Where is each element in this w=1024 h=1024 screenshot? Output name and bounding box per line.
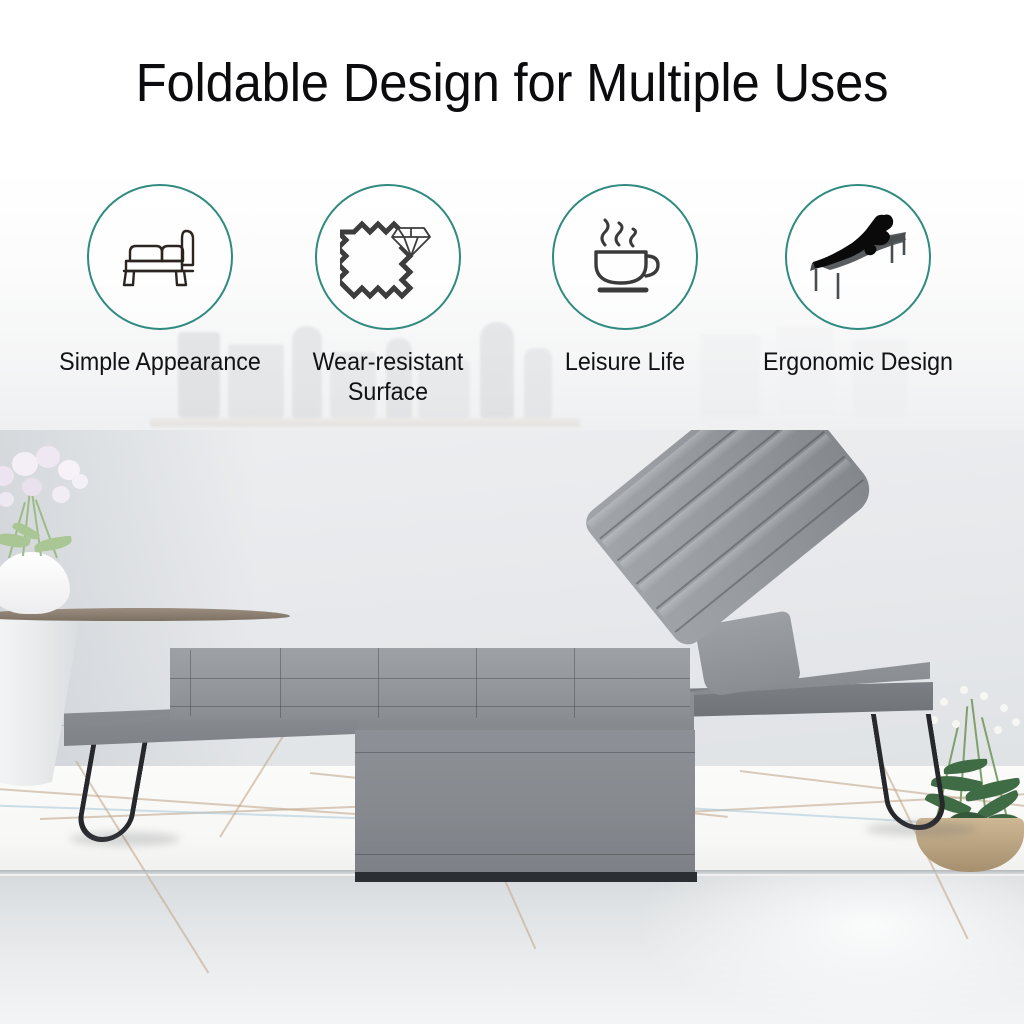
reclining-backrest xyxy=(580,430,900,676)
feature-icon-circle xyxy=(87,184,233,330)
feature-icon-circle xyxy=(552,184,698,330)
feature-item-ergonomic-design: Ergonomic Design xyxy=(742,184,974,377)
main-mattress-top xyxy=(170,648,690,720)
coffee-cup-steam-icon xyxy=(578,211,672,303)
feature-panel: Foldable Design for Multiple Uses xyxy=(0,0,1024,448)
page-title: Foldable Design for Multiple Uses xyxy=(31,52,994,114)
feature-icon-circle xyxy=(785,184,931,330)
feature-list: Simple Appearance xyxy=(0,184,1024,434)
skirt-base-shadow xyxy=(355,872,697,882)
folding-fabric-skirt xyxy=(355,730,695,880)
hairpin-leg xyxy=(871,714,949,830)
feature-label: Ergonomic Design xyxy=(750,347,966,377)
feature-label: Simple Appearance xyxy=(52,347,268,377)
feature-label: Wear-resistant Surface xyxy=(280,347,496,407)
sofa-bed-product xyxy=(0,430,1024,1024)
fabric-swatch-diamond-icon xyxy=(340,210,436,304)
feature-item-wear-resistant-surface: Wear-resistant Surface xyxy=(272,184,504,407)
feature-icon-circle xyxy=(315,184,461,330)
feature-label: Leisure Life xyxy=(517,347,733,377)
product-feature-banner: Foldable Design for Multiple Uses xyxy=(0,0,1024,1024)
product-scene-photo xyxy=(0,430,1024,1024)
bed-sofa-outline-icon xyxy=(114,221,206,293)
feature-item-leisure-life: Leisure Life xyxy=(509,184,741,377)
feature-item-simple-appearance: Simple Appearance xyxy=(44,184,276,377)
person-reclining-lounger-icon xyxy=(804,211,912,303)
backrest-body xyxy=(580,430,880,651)
